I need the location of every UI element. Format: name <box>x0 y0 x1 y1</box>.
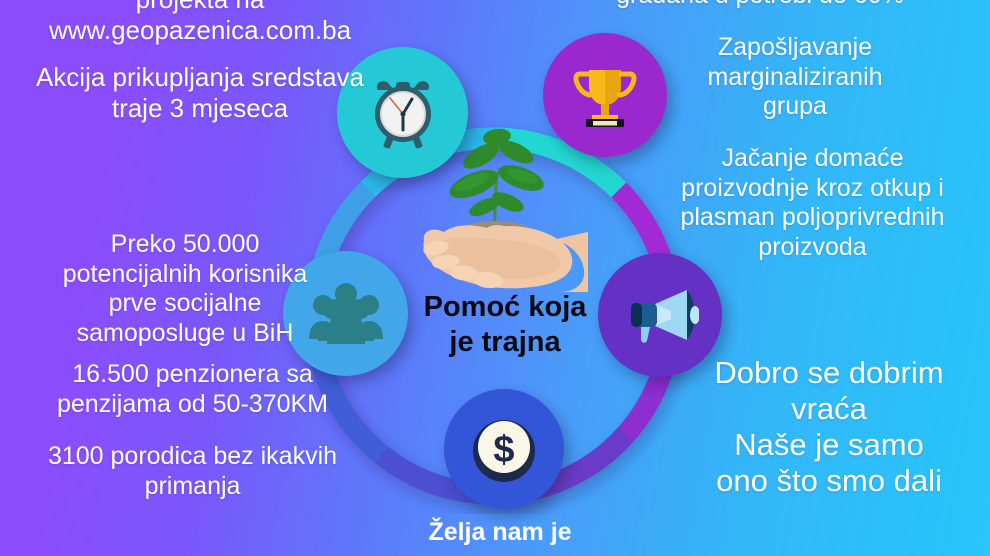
families-text: 3100 porodica bez ikakvih primanja <box>0 442 385 501</box>
campaign-duration-text: Akcija prikupljanja sredstava traje 3 mj… <box>0 62 400 123</box>
bottom-caption: Želja nam je <box>370 518 630 547</box>
svg-text:$: $ <box>493 429 514 471</box>
infographic-poster: $ projekta na www.geopazenica.com.ba Akc… <box>0 0 990 556</box>
employment-text: Zapošljavanje marginaliziranih grupa <box>640 33 950 122</box>
pensioners-text: 16.500 penzionera sa penzijama od 50-370… <box>0 360 385 419</box>
domestic-production-text: Jačanje domaće proizvodnje kroz otkup i … <box>640 144 985 262</box>
dollar-coin-icon: $ <box>444 389 564 509</box>
citizens-in-need-text: građana u potrebi do 60% <box>560 0 960 11</box>
potential-users-text: Preko 50.000 potencijalnih korisnika prv… <box>0 230 370 348</box>
slogan-text: Dobro se dobrim vraća Naše je samo ono š… <box>668 355 990 499</box>
center-title: Pomoć koja je trajna <box>395 290 615 360</box>
website-text: projekta na www.geopazenica.com.ba <box>0 0 400 45</box>
